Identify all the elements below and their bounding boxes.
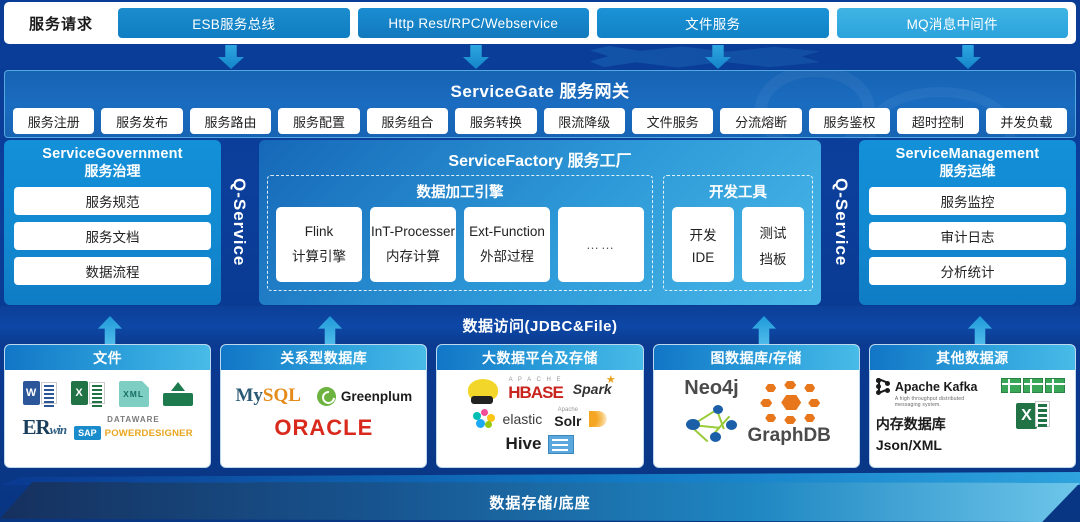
governance-item-data-flow[interactable]: 数据流程 [14,257,211,285]
kafka-logo: Apache Kafka [876,378,991,396]
service-request-title: 服务请求 [12,13,110,34]
graph-logo-wrap: Neo4j [660,377,853,447]
architecture-diagram: 服务请求 ESB服务总线 Http Rest/RPC/Webservice 文件… [0,0,1080,522]
source-card-relational-db-header: 关系型数据库 [221,345,426,370]
greenplum-mark-icon [317,387,336,406]
hive-logo-text: Hive [506,434,542,454]
gate-chip-service-compose[interactable]: 服务组合 [367,108,448,134]
excel-icon: X [1016,401,1050,431]
gate-chip-rate-limit[interactable]: 限流降级 [544,108,625,134]
word-icon: W [23,381,57,407]
solr-fan-icon [589,411,607,427]
sap-powerdesigner-logo: DATAWARE SAP POWERDESIGNER [74,415,193,440]
bigdata-logo-row-2: elastic Apache Solr [443,407,636,431]
request-channel-esb[interactable]: ESB服务总线 [118,8,350,38]
source-card-graph-db[interactable]: 图数据库/存储 Neo4j [653,344,860,468]
word-icon-letter: W [23,381,40,405]
erwin-logo: ERwin [22,415,66,440]
service-management-header: ServiceManagement 服务运维 [869,146,1066,181]
development-tools-title: 开发工具 [672,180,804,207]
engine-card-flink[interactable]: Flink 计算引擎 [276,207,362,282]
elastic-logo-text: elastic [503,411,543,427]
down-arrow-icon-4 [955,45,981,69]
other-icon-column: X [997,378,1069,431]
other-text-column: Apache Kafka A high throughput distribut… [876,378,991,453]
green-upload-icon [163,382,193,406]
spark-logo: ★ Spark [573,381,612,399]
source-card-graph-db-header: 图数据库/存储 [654,345,859,370]
oracle-logo: ORACLE [274,415,373,441]
hive-elephant-logo [468,379,498,401]
solr-logo: Apache Solr [554,407,581,431]
tools-card-test-stub[interactable]: 测试 挡板 [742,207,804,282]
engine-card-ext-function-name: Ext-Function [469,224,545,239]
tools-card-test-stub-name: 测试 [760,222,787,242]
engine-card-ext-function[interactable]: Ext-Function 外部过程 [464,207,550,282]
excel-icon-lines [1035,401,1050,427]
source-card-relational-db-body: MySQL Greenplum ORACLE [221,370,426,467]
source-card-bigdata-header: 大数据平台及存储 [437,345,642,370]
q-service-right-text: Q-Service [831,178,851,266]
bigdata-logo-row-3: Hive [443,434,636,454]
request-channel-mq[interactable]: MQ消息中间件 [837,8,1069,38]
hex-cluster-icon [756,381,822,425]
gate-chip-file-service[interactable]: 文件服务 [632,108,713,134]
mysql-logo-my: My [235,385,262,406]
gate-chip-timeout-control[interactable]: 超时控制 [897,108,978,134]
kafka-logo-text: Apache Kafka [895,380,978,394]
service-management-title-en: ServiceManagement [869,146,1066,162]
service-government-title-cn: 服务治理 [14,161,211,181]
mysql-logo-sql: SQL [263,385,301,406]
middle-row: ServiceGovernment 服务治理 服务规范 服务文档 数据流程 Q-… [4,140,1076,305]
excel-icon-letter: X [71,381,88,405]
engine-card-int-processer-desc: 内存计算 [386,245,440,265]
graphdb-logo: GraphDB [748,381,831,447]
greenplum-logo: Greenplum [317,387,412,406]
service-government-list: 服务规范 服务文档 数据流程 [14,187,211,285]
management-item-service-monitor[interactable]: 服务监控 [869,187,1066,215]
source-card-file[interactable]: 文件 W X XML ERwin [4,344,211,468]
down-arrow-icon-1 [218,45,244,69]
source-card-bigdata-body: A P A C H E HBASE ★ Spark [437,370,642,467]
engine-card-int-processer-name: InT-Processer [371,224,455,239]
engine-card-ext-function-desc: 外部过程 [480,245,534,265]
node-graph-icon [682,402,742,444]
service-gate-title: ServiceGate 服务网关 [5,71,1075,102]
relational-logo-row-1: MySQL Greenplum [227,385,420,407]
gate-chip-concurrency-load[interactable]: 并发负载 [986,108,1067,134]
request-channel-http[interactable]: Http Rest/RPC/Webservice [358,8,590,38]
green-table-icon-2 [1023,378,1043,393]
elastic-mark-icon [473,409,495,429]
data-processing-engine-title: 数据加工引擎 [276,180,644,207]
tools-card-ide[interactable]: 开发 IDE [672,207,734,282]
hbase-logo: A P A C H E HBASE [508,377,563,403]
gate-chip-service-publish[interactable]: 服务发布 [101,108,182,134]
service-request-bar: 服务请求 ESB服务总线 Http Rest/RPC/Webservice 文件… [4,2,1076,44]
file-logo-row-1: W X XML [11,381,204,407]
gate-chip-service-register[interactable]: 服务注册 [13,108,94,134]
q-service-label-right: Q-Service [823,140,859,305]
source-card-file-body: W X XML ERwin DATAWARE [5,370,210,467]
sap-logo: SAP [74,426,101,440]
tools-card-ide-desc: IDE [692,250,715,265]
engine-card-int-processer[interactable]: InT-Processer 内存计算 [370,207,456,282]
gate-chip-service-config[interactable]: 服务配置 [278,108,359,134]
tools-card-ide-name: 开发 [690,224,717,244]
service-gate-panel: ServiceGate 服务网关 服务注册 服务发布 服务路由 服务配置 服务组… [4,70,1076,138]
tools-card-list: 开发 IDE 测试 挡板 [672,207,804,282]
source-card-file-header: 文件 [5,345,210,370]
gate-chip-service-route[interactable]: 服务路由 [190,108,271,134]
json-xml-text: Json/XML [876,437,991,453]
tools-card-test-stub-desc: 挡板 [760,248,787,268]
q-service-left-text: Q-Service [229,178,249,266]
service-factory-panel: ServiceFactory 服务工厂 数据加工引擎 Flink 计算引擎 In… [259,140,821,305]
governance-item-service-doc[interactable]: 服务文档 [14,222,211,250]
down-arrow-icon-3 [705,45,731,69]
green-table-icon-group [997,378,1069,393]
dataware-logo: DATAWARE [74,415,193,424]
powerdesigner-text: POWERDESIGNER [105,428,193,439]
engine-card-list: Flink 计算引擎 InT-Processer 内存计算 Ext-Functi… [276,207,644,282]
mysql-logo: MySQL [235,385,300,407]
gate-chip-service-transform[interactable]: 服务转换 [455,108,536,134]
service-gate-capability-row: 服务注册 服务发布 服务路由 服务配置 服务组合 服务转换 限流降级 文件服务 … [5,102,1075,134]
data-access-title: 数据访问(JDBC&File) [0,315,1080,336]
service-government-panel: ServiceGovernment 服务治理 服务规范 服务文档 数据流程 [4,140,221,305]
data-source-card-row: 文件 W X XML ERwin [4,344,1076,468]
kafka-logo-subtext: A high throughput distributed messaging … [895,396,991,408]
solr-logo-text: Solr [554,413,581,429]
gate-chip-circuit-breaker[interactable]: 分流熔断 [720,108,801,134]
green-table-icon-1 [1001,378,1021,393]
gate-chip-service-auth[interactable]: 服务鉴权 [809,108,890,134]
excel-icon: X [71,381,105,407]
source-card-other[interactable]: 其他数据源 Apache K [869,344,1076,468]
source-card-graph-db-body: Neo4j [654,370,859,467]
bigdata-logo-row-1: A P A C H E HBASE ★ Spark [443,377,636,403]
file-logo-row-2: ERwin DATAWARE SAP POWERDESIGNER [11,415,204,440]
hive-doc-icon [548,435,574,454]
q-service-label-left: Q-Service [221,140,257,305]
spark-star-icon: ★ [606,373,616,386]
development-tools-group: 开发工具 开发 IDE 测试 挡板 [663,175,813,291]
graphdb-logo-text: GraphDB [748,425,831,447]
greenplum-logo-text: Greenplum [341,389,412,404]
request-channel-file[interactable]: 文件服务 [597,8,829,38]
other-logo-wrap: Apache Kafka A high throughput distribut… [876,378,1069,453]
service-factory-title: ServiceFactory 服务工厂 [267,144,813,175]
engine-card-flink-desc: 计算引擎 [292,245,346,265]
service-government-title-en: ServiceGovernment [14,146,211,162]
bottom-banner: 数据存储/底座 [0,468,1080,522]
relational-logo-row-2: ORACLE [227,415,420,441]
green-table-icon-3 [1045,378,1065,393]
service-management-list: 服务监控 审计日志 分析统计 [869,187,1066,285]
bottom-banner-main: 数据存储/底座 [0,482,1080,522]
data-processing-engine-group: 数据加工引擎 Flink 计算引擎 InT-Processer 内存计算 Ext… [267,175,653,291]
engine-card-flink-name: Flink [305,224,334,239]
service-management-title-cn: 服务运维 [869,161,1066,181]
service-government-header: ServiceGovernment 服务治理 [14,146,211,181]
kafka-mark-icon [876,378,892,396]
management-item-analytics[interactable]: 分析统计 [869,257,1066,285]
erwin-logo-subtext: win [50,422,67,437]
source-card-relational-db[interactable]: 关系型数据库 MySQL Greenplum ORACLE [220,344,427,468]
source-card-other-body: Apache Kafka A high throughput distribut… [870,370,1075,467]
source-card-other-header: 其他数据源 [870,345,1075,370]
downflow-arrows [0,44,1080,70]
excel-icon-letter: X [1016,403,1037,429]
source-card-bigdata[interactable]: 大数据平台及存储 A P A C H E HBASE ★ Spark [436,344,643,468]
management-item-audit-log[interactable]: 审计日志 [869,222,1066,250]
erwin-logo-text: ER [22,415,49,439]
service-management-panel: ServiceManagement 服务运维 服务监控 审计日志 分析统计 [859,140,1076,305]
engine-card-more[interactable]: …… [558,207,644,282]
hbase-logo-text: HBASE [508,383,563,402]
word-icon-lines [41,382,57,404]
xml-icon: XML [119,381,149,407]
bottom-banner-label: 数据存储/底座 [489,492,590,513]
memory-db-text: 内存数据库 [876,414,991,434]
excel-icon-lines [89,382,105,404]
neo4j-logo: Neo4j [682,377,742,444]
engine-card-more-ellipsis: …… [586,237,616,252]
data-access-band: 数据访问(JDBC&File) [0,306,1080,344]
neo4j-logo-text: Neo4j [682,377,742,400]
down-arrow-icon-2 [463,45,489,69]
service-factory-body: 数据加工引擎 Flink 计算引擎 InT-Processer 内存计算 Ext… [267,175,813,291]
governance-item-service-spec[interactable]: 服务规范 [14,187,211,215]
